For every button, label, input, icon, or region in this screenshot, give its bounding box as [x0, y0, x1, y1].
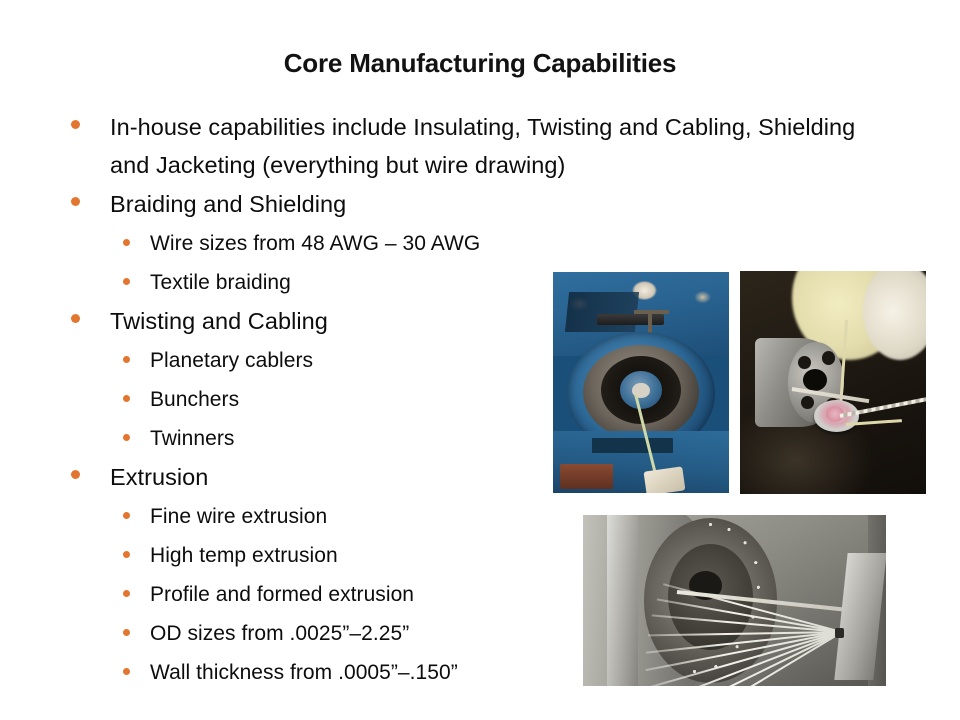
bullet-marker-icon: [71, 197, 80, 206]
bullet-marker-icon: [123, 590, 130, 597]
bullet-marker-icon: [123, 395, 130, 402]
list-item-label: Wire sizes from 48 AWG – 30 AWG: [150, 224, 900, 263]
braiding-machine-photo: [553, 272, 729, 493]
list-item-label: In-house capabilities include Insulating…: [110, 108, 900, 184]
bullet-marker-icon: [123, 668, 130, 675]
photo-detail: [560, 464, 613, 488]
bullet-marker-icon: [71, 470, 80, 479]
photo-detail: [592, 438, 673, 453]
photo-detail: [597, 314, 664, 325]
photo-detail: [822, 351, 835, 364]
bullet-marker-icon: [71, 314, 80, 323]
page-title: Core Manufacturing Capabilities: [0, 48, 960, 79]
photo-detail: [798, 356, 811, 369]
bullet-marker-icon: [123, 356, 130, 363]
bullet-marker-icon: [123, 278, 130, 285]
bullet-marker-icon: [123, 629, 130, 636]
photo-detail: [835, 628, 844, 638]
list-item: Braiding and Shielding: [0, 185, 900, 223]
bullet-marker-icon: [123, 434, 130, 441]
bullet-marker-icon: [71, 120, 80, 129]
twisting-machine-photo: [740, 271, 926, 494]
bullet-marker-icon: [123, 239, 130, 246]
extrusion-machine-photo: [583, 515, 886, 686]
list-item-label: Braiding and Shielding: [110, 185, 900, 223]
photo-detail: [565, 292, 640, 332]
bullet-marker-icon: [123, 551, 130, 558]
list-item: Wire sizes from 48 AWG – 30 AWG: [0, 224, 900, 263]
list-item: In-house capabilities include Insulating…: [0, 108, 900, 184]
photo-detail: [607, 515, 637, 686]
photo-detail: [643, 466, 685, 493]
bullet-marker-icon: [123, 512, 130, 519]
